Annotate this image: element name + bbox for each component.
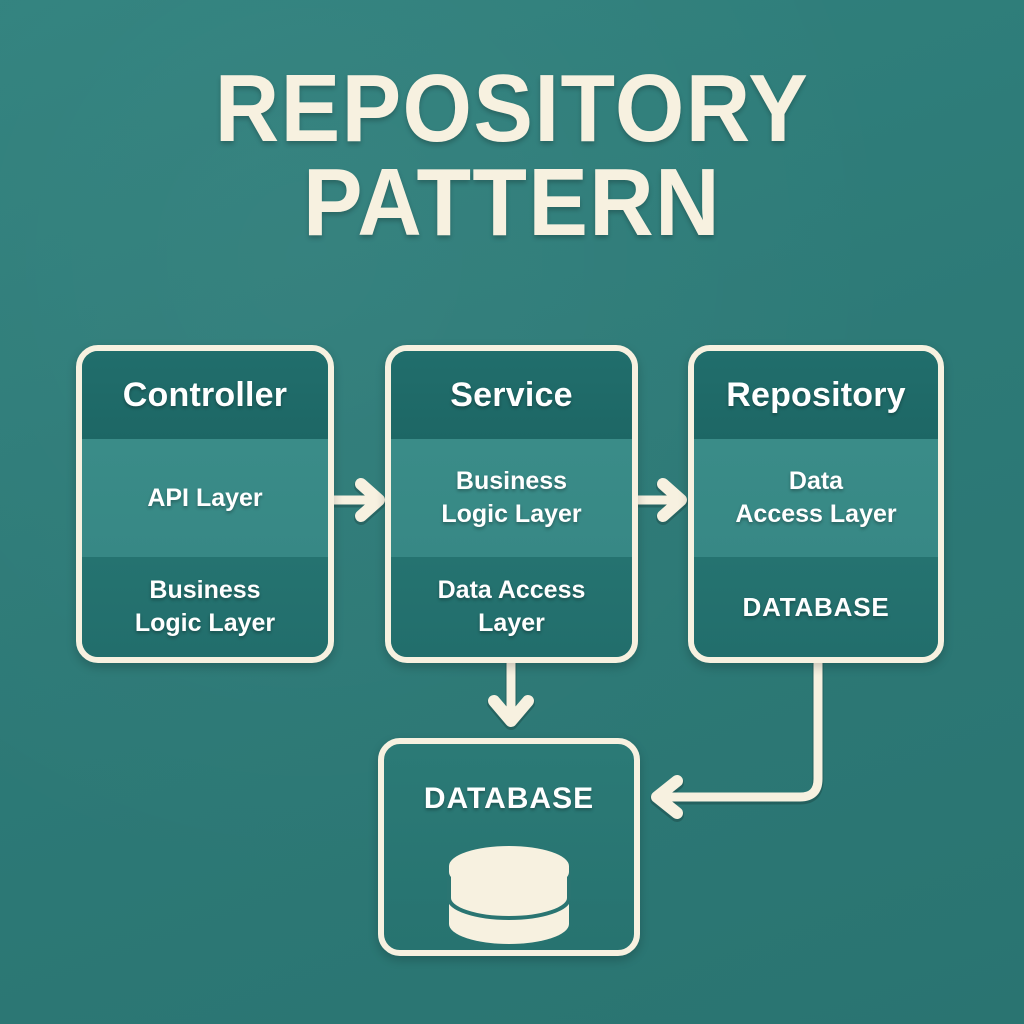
- database-box[interactable]: DATABASE: [378, 738, 640, 956]
- line-2: Logic Layer: [135, 609, 275, 637]
- card-repository[interactable]: Repository Data Access Layer DATABASE: [688, 345, 944, 663]
- card-repository-layer-1: Data Access Layer: [694, 439, 938, 557]
- card-controller[interactable]: Controller API Layer Business Logic Laye…: [76, 345, 334, 663]
- connector-repository-to-database: [657, 663, 818, 815]
- card-controller-layer-1: API Layer: [82, 439, 328, 557]
- title-line-1: REPOSITORY: [215, 55, 809, 162]
- card-controller-layer-2-label: Business Logic Layer: [135, 574, 275, 640]
- line-2: Logic Layer: [441, 500, 581, 528]
- card-service-layer-1-label: Business Logic Layer: [441, 465, 581, 531]
- card-service-layer-2-label: Data Access Layer: [438, 574, 586, 640]
- line-2: Access Layer: [735, 500, 896, 528]
- connector-service-to-repository: [637, 484, 681, 518]
- card-service-layer-1: Business Logic Layer: [391, 439, 632, 557]
- page-title: REPOSITORY PATTERN: [36, 62, 988, 250]
- connector-service-to-database: [494, 663, 528, 723]
- line-1: Business: [456, 467, 567, 495]
- line-1: Data: [789, 467, 843, 495]
- line-2: Layer: [478, 609, 545, 637]
- card-service-header: Service: [391, 351, 632, 439]
- card-service-layer-2: Data Access Layer: [391, 557, 632, 657]
- card-controller-layer-2: Business Logic Layer: [82, 557, 328, 657]
- title-line-2: PATTERN: [36, 156, 988, 250]
- card-controller-layer-1-label: API Layer: [147, 482, 262, 515]
- line-1: Data Access: [438, 576, 586, 604]
- database-cylinder-icon: [439, 840, 579, 953]
- card-repository-layer-2: DATABASE: [694, 557, 938, 657]
- connector-controller-to-service: [333, 484, 379, 518]
- card-service[interactable]: Service Business Logic Layer Data Access…: [385, 345, 638, 663]
- database-box-label: DATABASE: [424, 782, 594, 816]
- card-repository-layer-2-label: DATABASE: [743, 590, 890, 624]
- card-repository-header: Repository: [694, 351, 938, 439]
- diagram-canvas: REPOSITORY PATTERN: [0, 0, 1024, 1024]
- card-repository-layer-1-label: Data Access Layer: [735, 465, 896, 531]
- card-controller-header: Controller: [82, 351, 328, 439]
- line-1: Business: [149, 576, 260, 604]
